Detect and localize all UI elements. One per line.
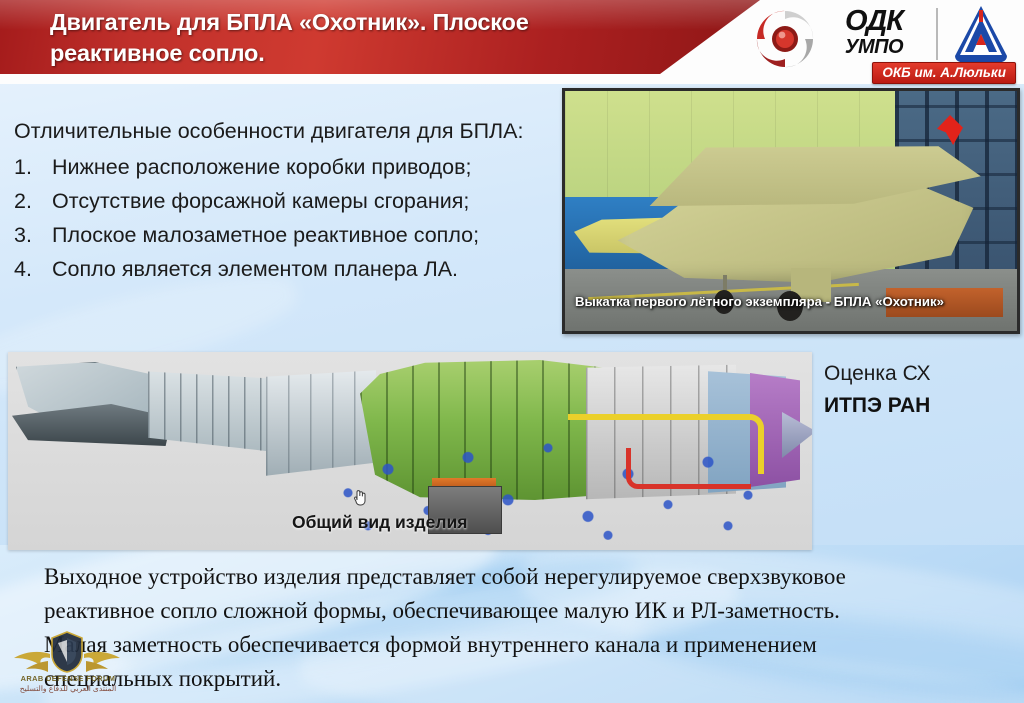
umpo-label: УМПО [820, 36, 928, 58]
engine-caption: Общий вид изделия [292, 512, 467, 533]
okb-lyulka-ribbon: ОКБ им. А.Люльки [872, 62, 1016, 84]
evaluation-org: ИТПЭ РАН [824, 394, 930, 418]
paragraph-line: специальных покрытий. [44, 662, 992, 696]
summary-paragraph: Выходное устройство изделия представляет… [44, 560, 992, 696]
list-item: 4. Сопло является элементом планера ЛА. [14, 252, 559, 286]
list-item-number: 3. [14, 218, 52, 252]
brand-logo: ОДК УМПО ОКБ им. А.Люльки [748, 2, 1020, 84]
photo-caption: Выкатка первого лётного экземпляра - БПЛ… [575, 294, 1011, 309]
odk-wordmark: ОДК УМПО [820, 6, 928, 58]
lyulka-shield-icon [952, 4, 1010, 64]
features-list: 1. Нижнее расположение коробки приводов;… [14, 150, 559, 286]
nozzle-duct-ribs [148, 366, 278, 458]
list-item: 1. Нижнее расположение коробки приводов; [14, 150, 559, 184]
evaluation-label: Оценка СХ [824, 362, 931, 386]
list-item-label: Нижнее расположение коробки приводов; [52, 150, 472, 184]
page-title: Двигатель для БПЛА «Охотник». Плоское ре… [50, 7, 670, 69]
paragraph-line: Малая заметность обеспечивается формой в… [44, 628, 992, 662]
paragraph-line: реактивное сопло сложной формы, обеспечи… [44, 594, 992, 628]
list-item-label: Отсутствие форсажной камеры сгорания; [52, 184, 469, 218]
list-item-number: 2. [14, 184, 52, 218]
list-item-number: 1. [14, 150, 52, 184]
slide-header: Двигатель для БПЛА «Охотник». Плоское ре… [0, 0, 1024, 84]
list-item: 2. Отсутствие форсажной камеры сгорания; [14, 184, 559, 218]
hand-cursor-icon [352, 488, 368, 506]
list-item-label: Плоское малозаметное реактивное сопло; [52, 218, 479, 252]
odk-label: ОДК [820, 6, 928, 36]
list-item: 3. Плоское малозаметное реактивное сопло… [14, 218, 559, 252]
watermark-name: ARAB DEFENSE FORUM [12, 674, 124, 683]
forum-watermark: ARAB DEFENSE FORUM المنتدى العربي للدفاع… [8, 628, 126, 700]
features-intro: Отличительные особенности двигателя для … [14, 118, 554, 145]
vertical-divider-icon [936, 8, 938, 60]
page-title-line-1: Двигатель для БПЛА «Охотник». Плоское [50, 7, 670, 38]
list-item-label: Сопло является элементом планера ЛА. [52, 252, 458, 286]
okhotnik-uav-rollout-photo: Выкатка первого лётного экземпляра - БПЛ… [562, 88, 1020, 334]
odk-swirl-icon [754, 8, 816, 70]
red-pipe-line [626, 448, 751, 489]
page-title-line-2: реактивное сопло. [50, 38, 670, 69]
slide-canvas: Двигатель для БПЛА «Охотник». Плоское ре… [0, 0, 1024, 703]
paragraph-line: Выходное устройство изделия представляет… [44, 560, 992, 594]
watermark-arabic: المنتدى العربي للدفاع والتسليح [12, 684, 124, 693]
list-item-number: 4. [14, 252, 52, 286]
